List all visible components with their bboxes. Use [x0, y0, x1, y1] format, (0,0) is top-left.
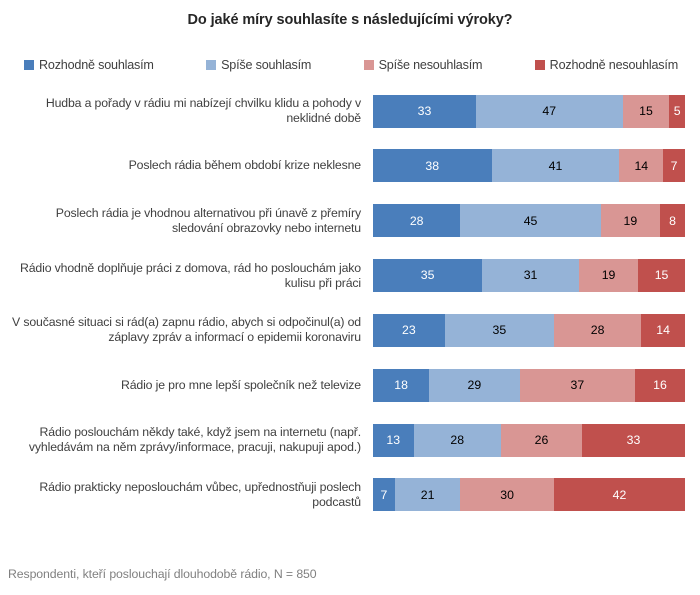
bar-segment[interactable]: 18 — [373, 369, 429, 402]
category-label: Hudba a pořady v rádiu mi nabízejí chvil… — [8, 96, 373, 126]
bar-segment[interactable]: 30 — [460, 478, 554, 511]
chart-footnote: Respondenti, kteří poslouchají dlouhodob… — [8, 567, 317, 581]
bar-segment[interactable]: 42 — [554, 478, 685, 511]
bar-row: Poslech rádia během období krize neklesn… — [8, 143, 685, 189]
stacked-bar: 18293716 — [373, 369, 685, 402]
bar-segment[interactable]: 45 — [460, 204, 600, 237]
bar-segment[interactable]: 7 — [373, 478, 395, 511]
legend-item-1[interactable]: Spíše souhlasím — [206, 58, 311, 72]
bar-segment[interactable]: 38 — [373, 149, 492, 182]
category-label: Poslech rádia je vhodnou alternativou př… — [8, 206, 373, 236]
stacked-bar-chart: Do jaké míry souhlasíte s následujícími … — [0, 0, 700, 595]
stacked-bar: 23352814 — [373, 314, 685, 347]
bar-segment[interactable]: 41 — [492, 149, 620, 182]
bar-segment[interactable]: 8 — [660, 204, 685, 237]
chart-legend: Rozhodně souhlasímSpíše souhlasímSpíše n… — [0, 56, 700, 74]
bar-segment[interactable]: 35 — [373, 259, 482, 292]
bar-segment[interactable]: 5 — [669, 95, 685, 128]
stacked-bar: 7213042 — [373, 478, 685, 511]
legend-label: Spíše nesouhlasím — [379, 58, 483, 72]
bar-row: Rádio prakticky neposlouchám vůbec, upře… — [8, 472, 685, 518]
stacked-bar: 13282633 — [373, 424, 685, 457]
bar-rows: Hudba a pořady v rádiu mi nabízejí chvil… — [8, 88, 685, 518]
category-label: Rádio prakticky neposlouchám vůbec, upře… — [8, 480, 373, 510]
bar-segment[interactable]: 13 — [373, 424, 414, 457]
bar-segment[interactable]: 47 — [476, 95, 623, 128]
stacked-bar: 2845198 — [373, 204, 685, 237]
bar-segment[interactable]: 23 — [373, 314, 445, 347]
plot-area: Hudba a pořady v rádiu mi nabízejí chvil… — [0, 74, 700, 595]
bar-segment[interactable]: 33 — [373, 95, 476, 128]
legend-swatch-icon — [364, 60, 374, 70]
legend-label: Rozhodně nesouhlasím — [550, 58, 678, 72]
bar-segment[interactable]: 29 — [429, 369, 519, 402]
stacked-bar: 35311915 — [373, 259, 685, 292]
bar-row: Rádio poslouchám někdy také, když jsem n… — [8, 417, 685, 463]
bar-segment[interactable]: 28 — [414, 424, 501, 457]
bar-segment[interactable]: 14 — [619, 149, 663, 182]
bar-row: Poslech rádia je vhodnou alternativou př… — [8, 198, 685, 244]
bar-segment[interactable]: 19 — [601, 204, 660, 237]
legend-swatch-icon — [206, 60, 216, 70]
bar-segment[interactable]: 31 — [482, 259, 579, 292]
stacked-bar: 3841147 — [373, 149, 685, 182]
bar-segment[interactable]: 15 — [623, 95, 670, 128]
legend-item-0[interactable]: Rozhodně souhlasím — [24, 58, 154, 72]
category-label: V současné situaci si rád(a) zapnu rádio… — [8, 315, 373, 345]
bar-segment[interactable]: 28 — [373, 204, 460, 237]
bar-segment[interactable]: 14 — [641, 314, 685, 347]
bar-segment[interactable]: 28 — [554, 314, 641, 347]
bar-segment[interactable]: 21 — [395, 478, 461, 511]
bar-segment[interactable]: 35 — [445, 314, 554, 347]
category-label: Rádio je pro mne lepší společník než tel… — [8, 378, 373, 393]
bar-row: Hudba a pořady v rádiu mi nabízejí chvil… — [8, 88, 685, 134]
bar-segment[interactable]: 15 — [638, 259, 685, 292]
bar-segment[interactable]: 19 — [579, 259, 638, 292]
stacked-bar: 3347155 — [373, 95, 685, 128]
bar-segment[interactable]: 37 — [520, 369, 635, 402]
category-label: Rádio poslouchám někdy také, když jsem n… — [8, 425, 373, 455]
legend-item-3[interactable]: Rozhodně nesouhlasím — [535, 58, 678, 72]
legend-label: Rozhodně souhlasím — [39, 58, 154, 72]
legend-item-2[interactable]: Spíše nesouhlasím — [364, 58, 483, 72]
bar-row: V současné situaci si rád(a) zapnu rádio… — [8, 307, 685, 353]
bar-segment[interactable]: 33 — [582, 424, 685, 457]
legend-swatch-icon — [24, 60, 34, 70]
category-label: Rádio vhodně doplňuje práci z domova, rá… — [8, 261, 373, 291]
bar-row: Rádio je pro mne lepší společník než tel… — [8, 362, 685, 408]
legend-label: Spíše souhlasím — [221, 58, 311, 72]
bar-segment[interactable]: 26 — [501, 424, 582, 457]
category-label: Poslech rádia během období krize neklesn… — [8, 158, 373, 173]
bar-segment[interactable]: 16 — [635, 369, 685, 402]
chart-title: Do jaké míry souhlasíte s následujícími … — [0, 0, 700, 28]
legend-swatch-icon — [535, 60, 545, 70]
bar-row: Rádio vhodně doplňuje práci z domova, rá… — [8, 253, 685, 299]
bar-segment[interactable]: 7 — [663, 149, 685, 182]
